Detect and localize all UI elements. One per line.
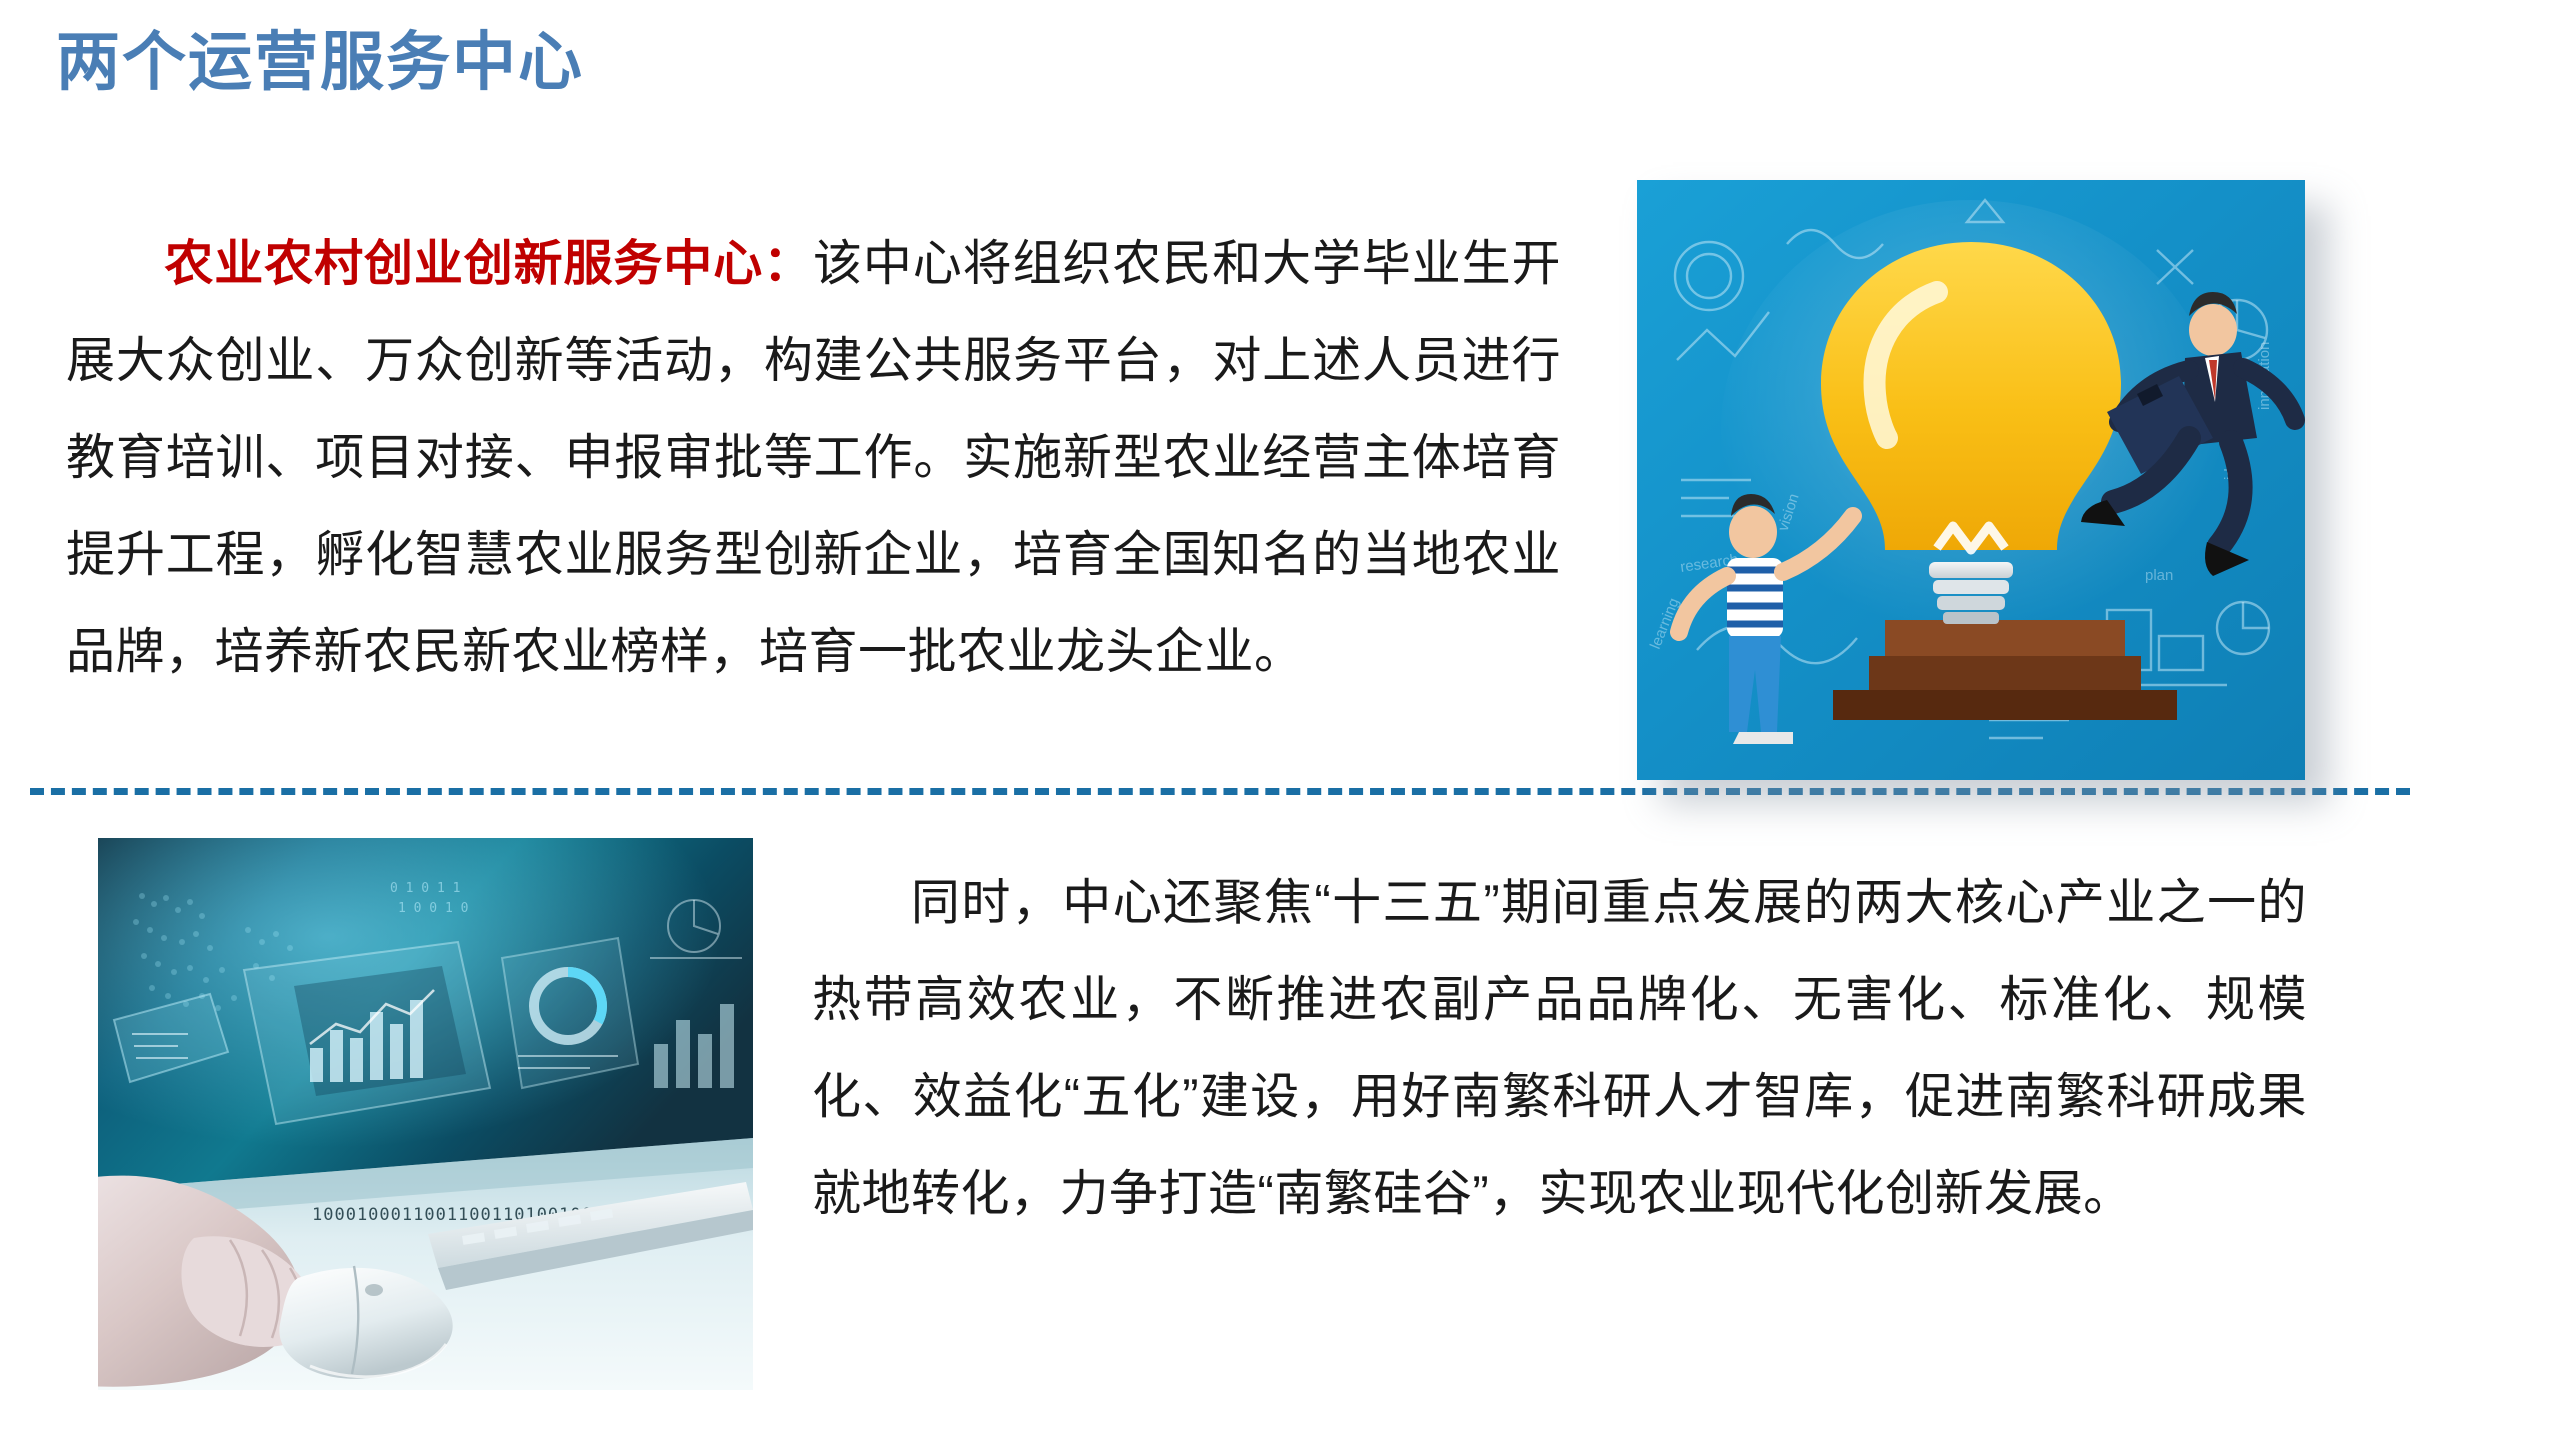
svg-text:1 0 0 1 0: 1 0 0 1 0 bbox=[398, 901, 468, 916]
paragraph-agriculture-center: 农业农村创业创新服务中心：该中心将组织农民和大学毕业生开展大众创业、万众创新等活… bbox=[66, 216, 1561, 701]
lightbulb-innovation-illustration: research plan idea innovation learning v… bbox=[1637, 180, 2305, 780]
paragraph-one-body: 该中心将组织农民和大学毕业生开展大众创业、万众创新等活动，构建公共服务平台，对上… bbox=[66, 237, 1561, 679]
section-divider bbox=[30, 788, 2410, 795]
data-analytics-mouse-photo: 0 1 0 1 1 1 0 0 1 0 10001000110011001101… bbox=[98, 838, 753, 1390]
paragraph-tropical-agriculture: 同时，中心还聚焦“十三五”期间重点发展的两大核心产业之一的热带高效农业，不断推进… bbox=[812, 855, 2307, 1243]
svg-text:0 1 0 1 1: 0 1 0 1 1 bbox=[390, 881, 460, 896]
paragraph-two-body: 同时，中心还聚焦“十三五”期间重点发展的两大核心产业之一的热带高效农业，不断推进… bbox=[812, 876, 2307, 1221]
slide-canvas: 两个运营服务中心 农业农村创业创新服务中心：该中心将组织农民和大学毕业生开展大众… bbox=[0, 0, 2560, 1440]
page-title: 两个运营服务中心 bbox=[56, 26, 584, 100]
paragraph-lead-label: 农业农村创业创新服务中心： bbox=[164, 237, 813, 291]
